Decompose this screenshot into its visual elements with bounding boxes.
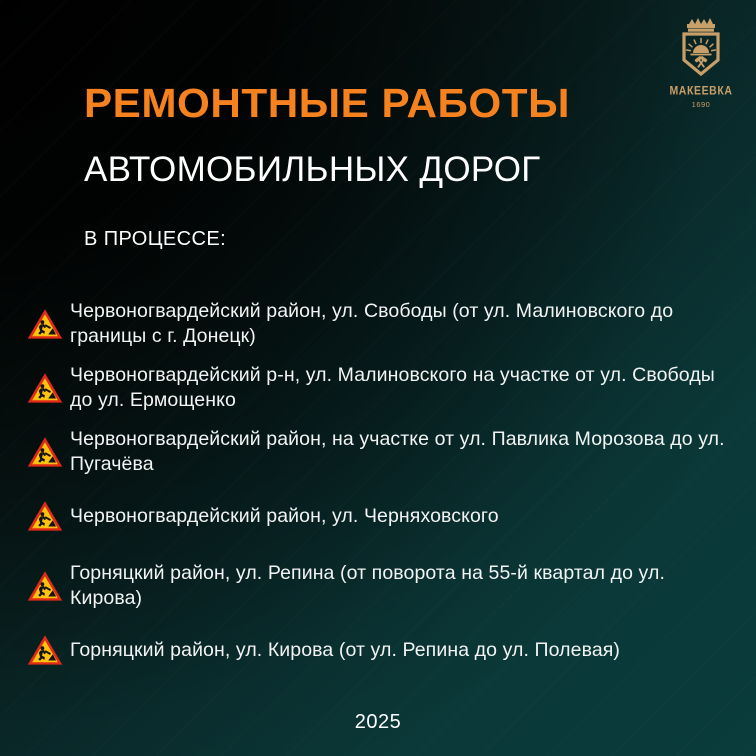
list-item: Горняцкий район, ул. Репина (от поворота… [26, 560, 726, 612]
list-item: Червоногвардейский р-н, ул. Малиновского… [26, 362, 726, 414]
list-item-text: Горняцкий район, ул. Репина (от поворота… [70, 561, 725, 611]
poster-canvas: МАКЕЕВКА 1690 РЕМОНТНЫЕ РАБОТЫ АВТОМОБИЛ… [0, 0, 756, 756]
city-logo: МАКЕЕВКА 1690 [662, 14, 740, 118]
list-item: Червоногвардейский район, ул. Свободы (о… [26, 298, 726, 350]
list-item: Червоногвардейский район, на участке от … [26, 426, 726, 478]
page-title: РЕМОНТНЫЕ РАБОТЫ [84, 80, 570, 127]
list-item-text: Червоногвардейский район, ул. Свободы (о… [70, 299, 725, 349]
list-item: Червоногвардейский район, ул. Черняховск… [26, 490, 726, 542]
list-item: Горняцкий район, ул. Кирова (от ул. Репи… [26, 624, 726, 676]
page-subtitle: АВТОМОБИЛЬНЫХ ДОРОГ [84, 150, 541, 190]
makeevka-coat-of-arms-icon [662, 14, 740, 84]
list-item-text: Горняцкий район, ул. Кирова (от ул. Репи… [70, 638, 620, 663]
road-works-sign-icon [26, 371, 64, 405]
list-item-text: Червоногвардейский район, ул. Черняховск… [70, 504, 499, 529]
road-works-sign-icon [26, 435, 64, 469]
road-works-list: Червоногвардейский район, ул. Свободы (о… [26, 298, 726, 688]
list-item-text: Червоногвардейский р-н, ул. Малиновского… [70, 363, 725, 413]
footer-year: 2025 [0, 711, 756, 734]
road-works-sign-icon [26, 307, 64, 341]
road-works-sign-icon [26, 633, 64, 667]
list-item-text: Червоногвардейский район, на участке от … [70, 427, 725, 477]
road-works-sign-icon [26, 499, 64, 533]
logo-founding-year: 1690 [662, 100, 740, 109]
logo-city-name: МАКЕЕВКА [662, 84, 740, 98]
section-label-in-progress: В ПРОЦЕССЕ: [84, 228, 226, 251]
road-works-sign-icon [26, 569, 64, 603]
